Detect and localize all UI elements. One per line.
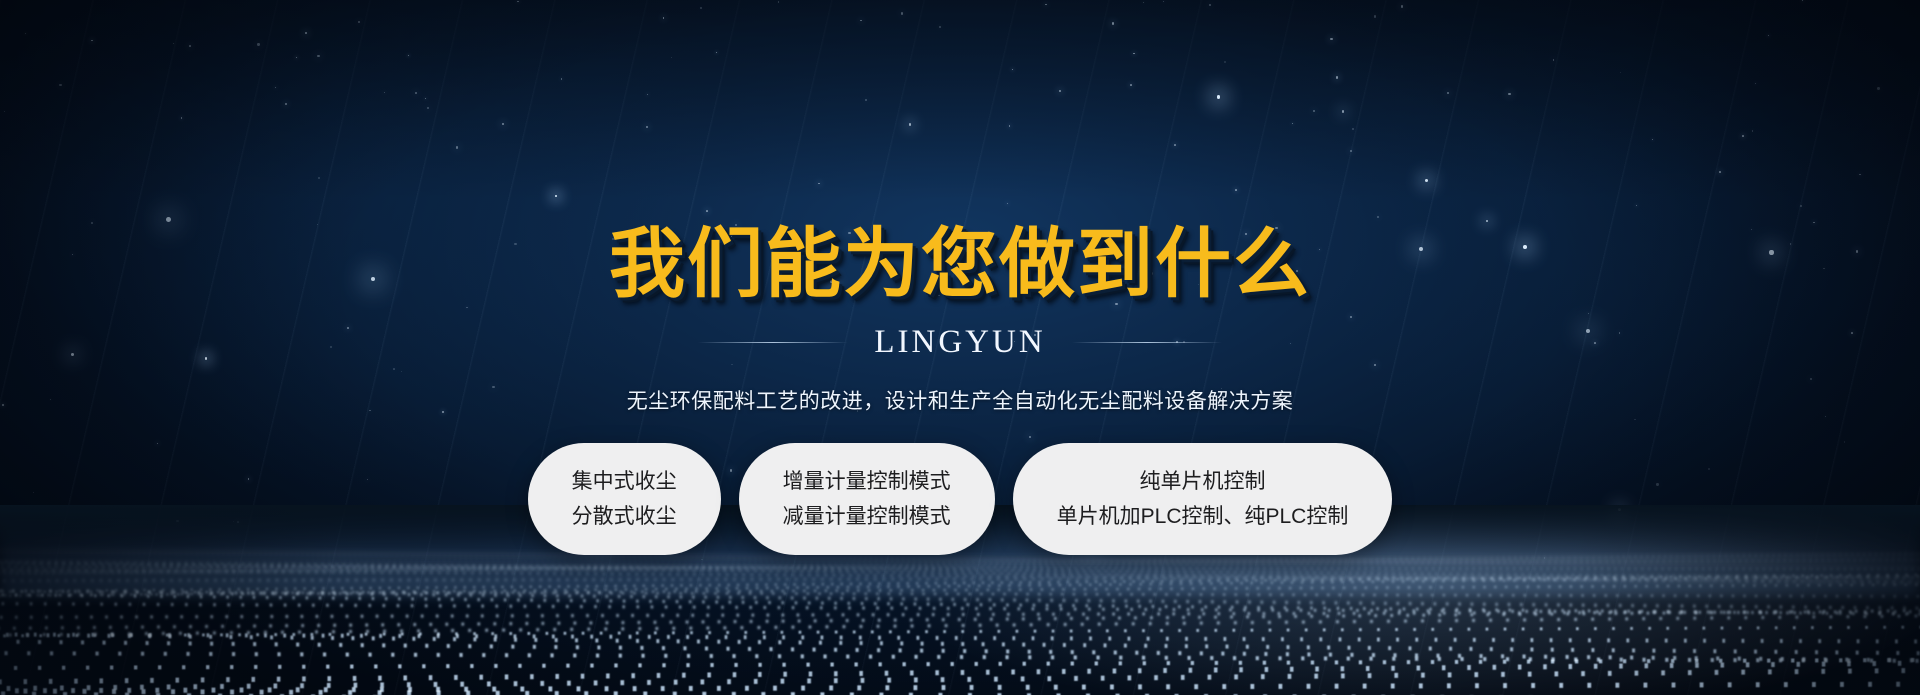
- feature-card-line-1: 增量计量控制模式: [783, 471, 951, 492]
- feature-card-list: 集中式收尘 分散式收尘 增量计量控制模式 减量计量控制模式 纯单片机控制 单片机…: [528, 443, 1393, 555]
- feature-card-line-1: 纯单片机控制: [1139, 471, 1265, 492]
- feature-card-line-2: 减量计量控制模式: [783, 506, 951, 527]
- feature-card-line-1: 集中式收尘: [572, 471, 677, 492]
- feature-card-line-2: 单片机加PLC控制、纯PLC控制: [1057, 506, 1349, 527]
- feature-card-dust-collection[interactable]: 集中式收尘 分散式收尘: [528, 443, 721, 555]
- banner-content: 我们能为您做到什么 LINGYUN 无尘环保配料工艺的改进，设计和生产全自动化无…: [0, 0, 1920, 695]
- hero-banner: 我们能为您做到什么 LINGYUN 无尘环保配料工艺的改进，设计和生产全自动化无…: [0, 0, 1920, 695]
- feature-card-line-2: 分散式收尘: [572, 506, 677, 527]
- brand-name: LINGYUN: [874, 324, 1045, 361]
- feature-card-control-system[interactable]: 纯单片机控制 单片机加PLC控制、纯PLC控制: [1013, 443, 1393, 555]
- banner-description: 无尘环保配料工艺的改进，设计和生产全自动化无尘配料设备解决方案: [627, 385, 1294, 415]
- brand-rule-right: [1072, 342, 1222, 343]
- banner-headline: 我们能为您做到什么: [609, 226, 1311, 302]
- brand-rule-left: [698, 342, 848, 343]
- brand-row: LINGYUN: [698, 324, 1221, 361]
- feature-card-metering-mode[interactable]: 增量计量控制模式 减量计量控制模式: [739, 443, 995, 555]
